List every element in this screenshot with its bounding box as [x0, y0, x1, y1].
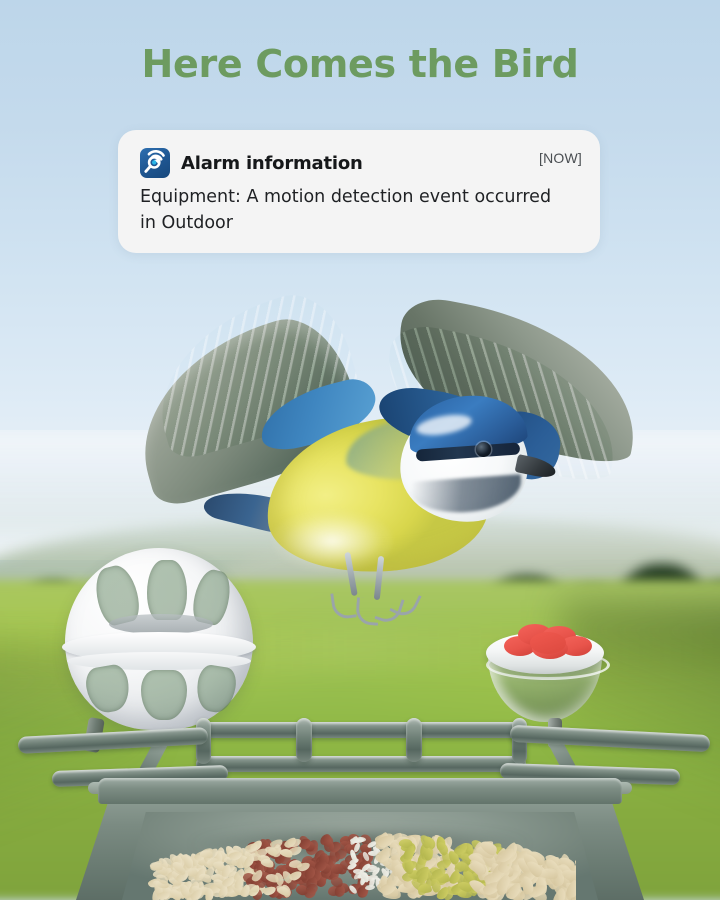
perch-rail-center-bottom — [196, 756, 526, 772]
radar-camera-icon — [140, 148, 170, 178]
alarm-notification-card[interactable]: Alarm information [NOW] Equipment: A mot… — [118, 130, 600, 253]
cage-ball-inner-lid — [109, 614, 213, 634]
seed — [364, 884, 375, 890]
notification-title: Alarm information — [181, 153, 363, 174]
flower-center — [530, 632, 566, 654]
white-cage-ball-feeder — [65, 548, 253, 730]
bird-claw — [330, 591, 357, 621]
bird-belly — [272, 510, 392, 572]
page-title: Here Comes the Bird — [0, 42, 720, 86]
flower-dome-feeder — [480, 620, 610, 730]
seed — [323, 839, 334, 852]
seed-mix-pile — [148, 828, 576, 900]
notification-body: Equipment: A motion detection event occu… — [140, 184, 560, 236]
perch-rail-center-top — [196, 722, 526, 738]
cage-ball-opening — [147, 560, 187, 620]
perch-rail-post — [296, 718, 312, 762]
seed-tray-rim — [98, 778, 622, 804]
bird-eye — [476, 442, 491, 457]
perch-rail-post — [406, 718, 422, 762]
notification-timestamp: [NOW] — [539, 150, 582, 166]
cage-ball-opening — [141, 670, 187, 720]
promo-image-stage: Here Comes the Bird Alarm information [N… — [0, 0, 720, 900]
notification-header: Alarm information — [140, 146, 582, 180]
